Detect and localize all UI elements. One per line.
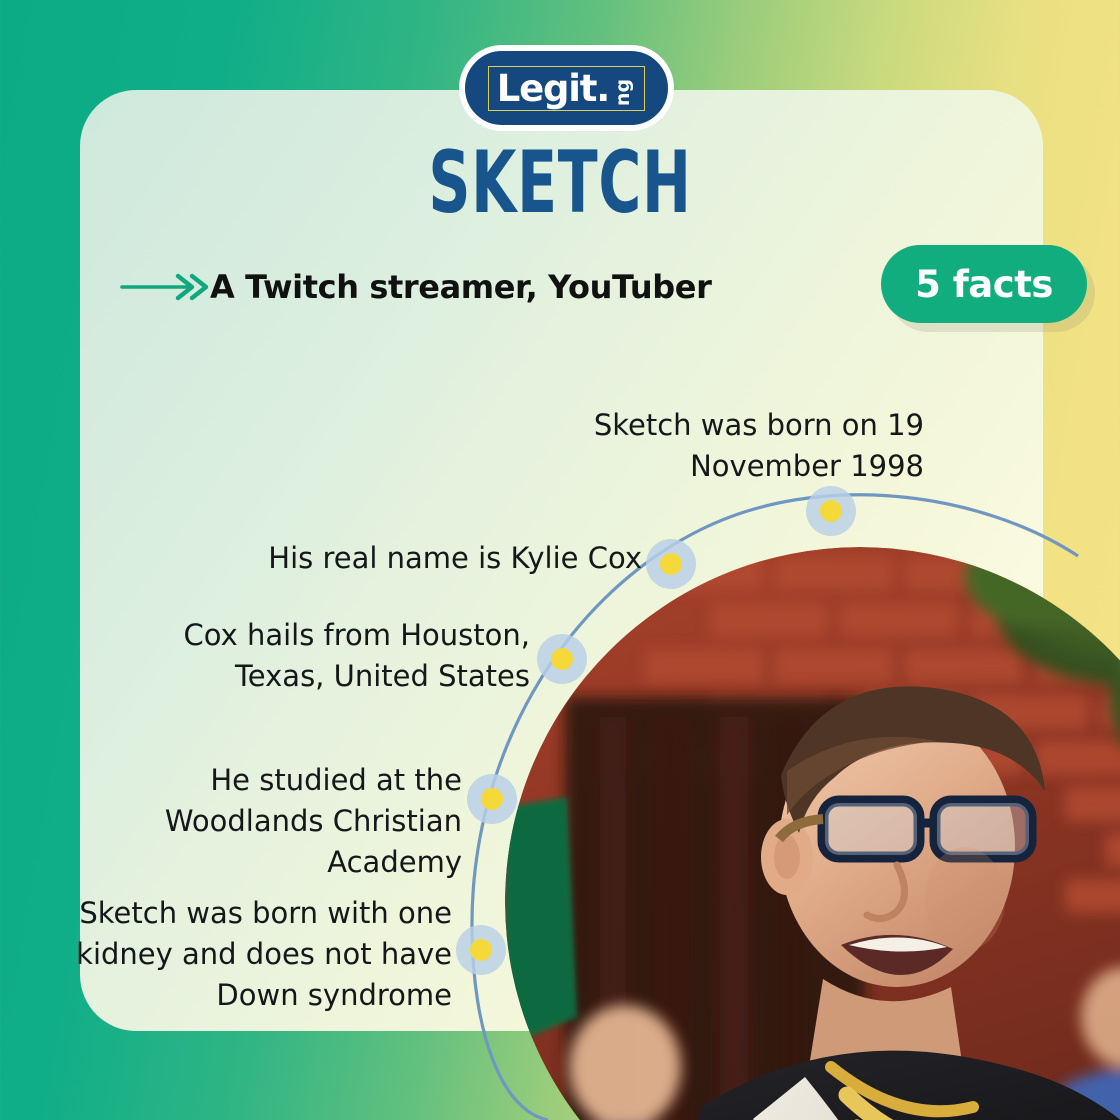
page-subtitle: A Twitch streamer, YouTuber [210, 268, 711, 306]
facts-count-label: 5 facts [915, 263, 1053, 306]
fact-item-1: Sketch was born on 19 November 1998 [500, 405, 924, 487]
brand-logo-word: Legit. [497, 70, 609, 107]
subtitle-row: A Twitch streamer, YouTuber [120, 268, 711, 306]
page-title: SKETCH [179, 140, 941, 226]
arrow-right-double-icon [120, 270, 212, 304]
fact-item-2: His real name is Kylie Cox [200, 538, 642, 579]
fact-item-3: Cox hails from Houston, Texas, United St… [110, 615, 530, 697]
fact-item-5: Sketch was born with one kidney and does… [70, 893, 452, 1017]
fact-item-4: He studied at the Woodlands Christian Ac… [70, 760, 462, 884]
brand-logo-tld: ng [614, 78, 633, 105]
brand-logo-frame: Legit.ng [488, 66, 646, 111]
brand-logo[interactable]: Legit.ng [459, 45, 674, 131]
facts-count-badge: 5 facts [881, 245, 1087, 323]
